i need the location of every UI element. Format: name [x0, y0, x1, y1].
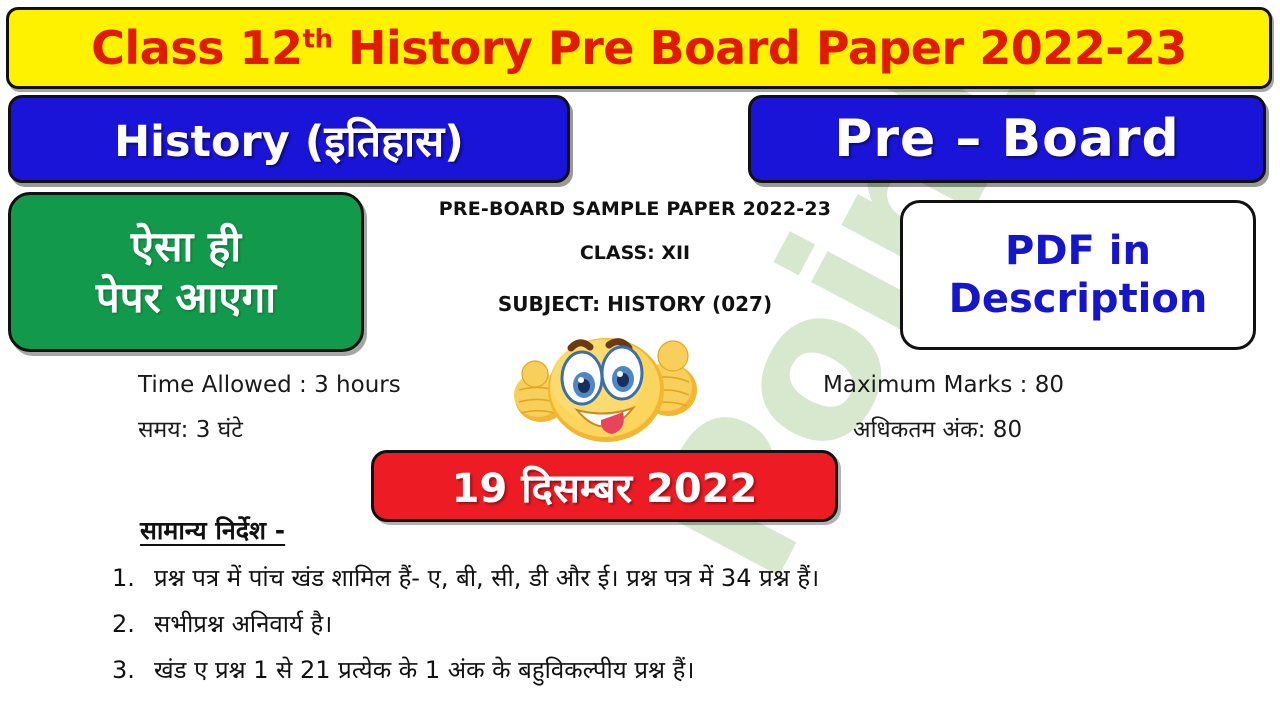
promo-badge-line1: ऐसा ही	[131, 221, 241, 272]
list-item-number: 1.	[112, 563, 154, 593]
page-title-superscript: th	[303, 25, 333, 55]
instructions-list: 1. प्रश्न पत्र में पांच खंड शामिल हैं- ए…	[112, 563, 1252, 701]
preboard-badge-label: Pre – Board	[834, 109, 1180, 169]
list-item-number: 3.	[112, 655, 154, 685]
promo-badge-line2: पेपर आएगा	[96, 272, 276, 323]
maximum-marks-hindi: अधिकतम अंक: 80	[853, 412, 1064, 444]
thumbs-up-smiley-icon	[505, 328, 710, 453]
page-title-suffix: History Pre Board Paper 2022-23	[332, 21, 1186, 75]
time-allowed-block: Time Allowed : 3 hours समय: 3 घंटे	[138, 372, 401, 444]
list-item: 1. प्रश्न पत्र में पांच खंड शामिल हैं- ए…	[112, 563, 1252, 593]
pdf-description-badge: PDF in Description	[900, 200, 1256, 350]
pdf-description-line1: PDF in	[1005, 227, 1151, 275]
subject-badge: History (इतिहास)	[8, 95, 570, 183]
pdf-description-line2: Description	[949, 275, 1208, 323]
instructions-title: सामान्य निर्देश -	[140, 513, 285, 547]
list-item-text: प्रश्न पत्र में पांच खंड शामिल हैं- ए, ब…	[154, 563, 1252, 593]
time-allowed-english: Time Allowed : 3 hours	[138, 372, 401, 398]
time-allowed-hindi: समय: 3 घंटे	[138, 412, 401, 444]
list-item: 3. खंड ए प्रश्न 1 से 21 प्रत्येक के 1 अं…	[112, 655, 1252, 685]
paper-heading-line3: SUBJECT: HISTORY (027)	[390, 292, 880, 316]
list-item-text: खंड ए प्रश्न 1 से 21 प्रत्येक के 1 अंक क…	[154, 655, 1252, 685]
paper-heading-line2: CLASS: XII	[390, 242, 880, 264]
maximum-marks-english: Maximum Marks : 80	[823, 372, 1064, 398]
maximum-marks-block: Maximum Marks : 80 अधिकतम अंक: 80	[823, 372, 1064, 444]
document-page: Point Class 12th History Pre Board Paper…	[0, 0, 1280, 720]
page-title-prefix: Class 12	[91, 21, 302, 75]
list-item: 2. सभीप्रश्न अनिवार्य है।	[112, 609, 1252, 639]
paper-heading-line1: PRE-BOARD SAMPLE PAPER 2022-23	[390, 198, 880, 220]
page-title: Class 12th History Pre Board Paper 2022-…	[91, 25, 1187, 71]
title-banner: Class 12th History Pre Board Paper 2022-…	[6, 7, 1272, 89]
paper-heading: PRE-BOARD SAMPLE PAPER 2022-23 CLASS: XI…	[390, 198, 880, 316]
preboard-badge: Pre – Board	[748, 95, 1266, 183]
list-item-text: सभीप्रश्न अनिवार्य है।	[154, 609, 1252, 639]
subject-badge-label: History (इतिहास)	[114, 110, 464, 169]
exam-date-label: 19 दिसम्बर 2022	[452, 459, 758, 514]
list-item-number: 2.	[112, 609, 154, 639]
exam-date-badge: 19 दिसम्बर 2022	[371, 450, 838, 522]
promo-badge: ऐसा ही पेपर आएगा	[8, 192, 364, 352]
